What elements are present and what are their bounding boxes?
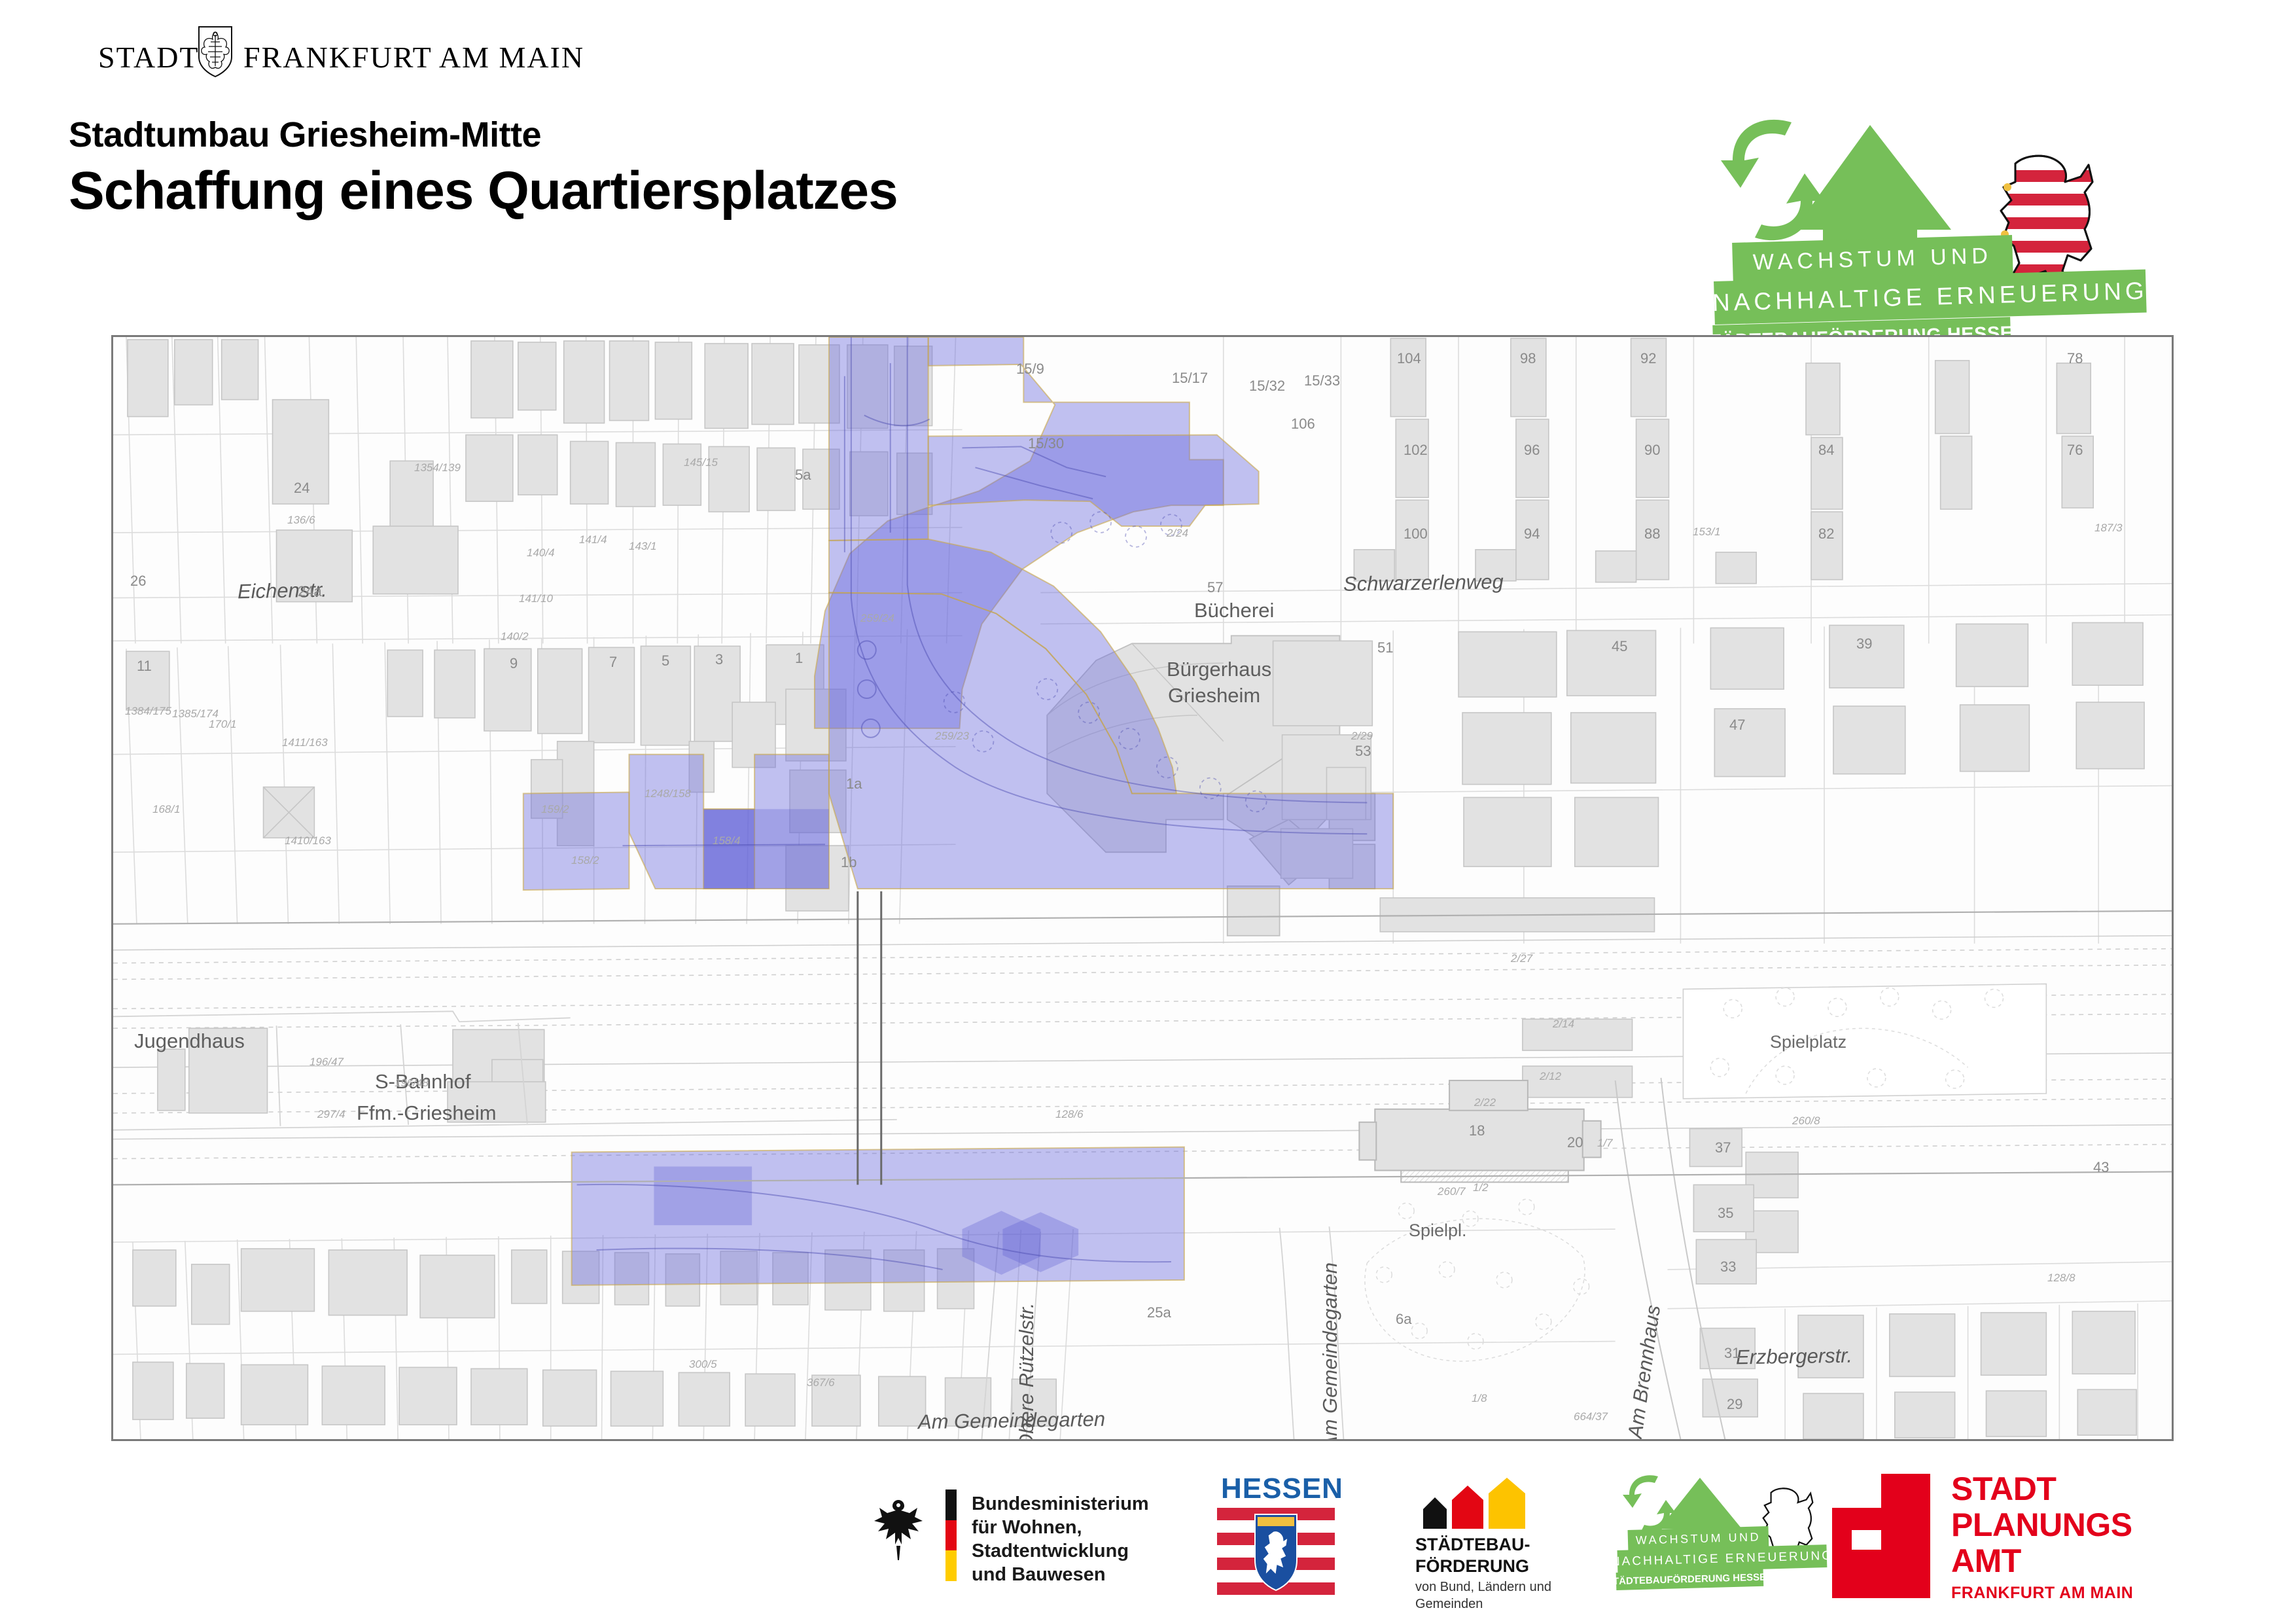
wachstum-footer-logo: WACHSTUM UND NACHHALTIGE ERNEUERUNG STÄD…	[1616, 1472, 1858, 1603]
frankfurt-eagle-shield-icon	[196, 26, 234, 78]
german-flag-bar-icon	[945, 1489, 957, 1581]
bmwsb-logo: Bundesministerium für Wohnen, Stadtentwi…	[870, 1484, 1197, 1596]
staedtebaufoerderung-text: STÄDTEBAU- FÖRDERUNG	[1415, 1534, 1530, 1577]
wachstum-footer-line3: STÄDTEBAUFÖRDERUNG HESSEN	[1616, 1569, 1764, 1590]
wachstum-footer-line2: NACHHALTIGE ERNEUERUNG	[1617, 1544, 1828, 1573]
city-of-frankfurt-logo: STADT FRANKFURT AM MAIN	[98, 36, 517, 85]
stf-line2: FÖRDERUNG	[1415, 1556, 1530, 1577]
spa-subtitle: FRANKFURT AM MAIN	[1951, 1584, 2133, 1603]
page-footer: Bundesministerium für Wohnen, Stadtentwi…	[0, 1459, 2296, 1623]
spa-line1: STADT	[1951, 1471, 2132, 1507]
hessen-wordmark: HESSEN	[1221, 1472, 1343, 1505]
staedtebaufoerderung-subtext: von Bund, Ländern und Gemeinden	[1415, 1578, 1551, 1613]
stadtplanungsamt-logo: STADT PLANUNGS AMT FRANKFURT AM MAIN	[1832, 1474, 2172, 1605]
staedtebaufoerderung-logo: STÄDTEBAU- FÖRDERUNG von Bund, Ländern u…	[1404, 1478, 1600, 1599]
bmwsb-line1: Bundesministerium	[972, 1492, 1197, 1516]
map-vector-layer	[113, 337, 2172, 1439]
page-title: Schaffung eines Quartiersplatzes	[69, 160, 898, 222]
spa-line2: PLANUNGS	[1951, 1507, 2132, 1543]
federal-eagle-icon	[870, 1497, 927, 1563]
page-header: STADT FRANKFURT AM MAIN Stadtumbau Gries…	[0, 0, 2296, 327]
stf-line1: STÄDTEBAU-	[1415, 1534, 1530, 1556]
spa-block-mark-icon	[1832, 1474, 1930, 1598]
stf-sub1: von Bund, Ländern und	[1415, 1578, 1551, 1596]
stf-sub2: Gemeinden	[1415, 1596, 1551, 1613]
cadastral-map[interactable]: Eichenstr. Schwarzerlenweg Erzbergerstr.…	[111, 335, 2174, 1441]
bmwsb-line2: für Wohnen, Stadtentwicklung	[972, 1516, 1197, 1563]
hessen-logo: HESSEN	[1217, 1472, 1341, 1600]
project-subtitle: Stadtumbau Griesheim-Mitte	[69, 115, 541, 155]
city-logo-word-stadt: STADT	[98, 40, 200, 75]
hessen-flag-icon	[1217, 1507, 1335, 1599]
three-houses-icon	[1417, 1478, 1534, 1529]
hessen-shield-icon	[1254, 1513, 1298, 1592]
spa-line3: AMT	[1951, 1543, 2132, 1579]
city-logo-word-frankfurt: FRANKFURT AM MAIN	[243, 40, 584, 75]
bmwsb-line3: und Bauwesen	[972, 1563, 1197, 1586]
spa-wordmark: STADT PLANUNGS AMT	[1951, 1471, 2132, 1579]
bmwsb-text: Bundesministerium für Wohnen, Stadtentwi…	[972, 1492, 1197, 1586]
